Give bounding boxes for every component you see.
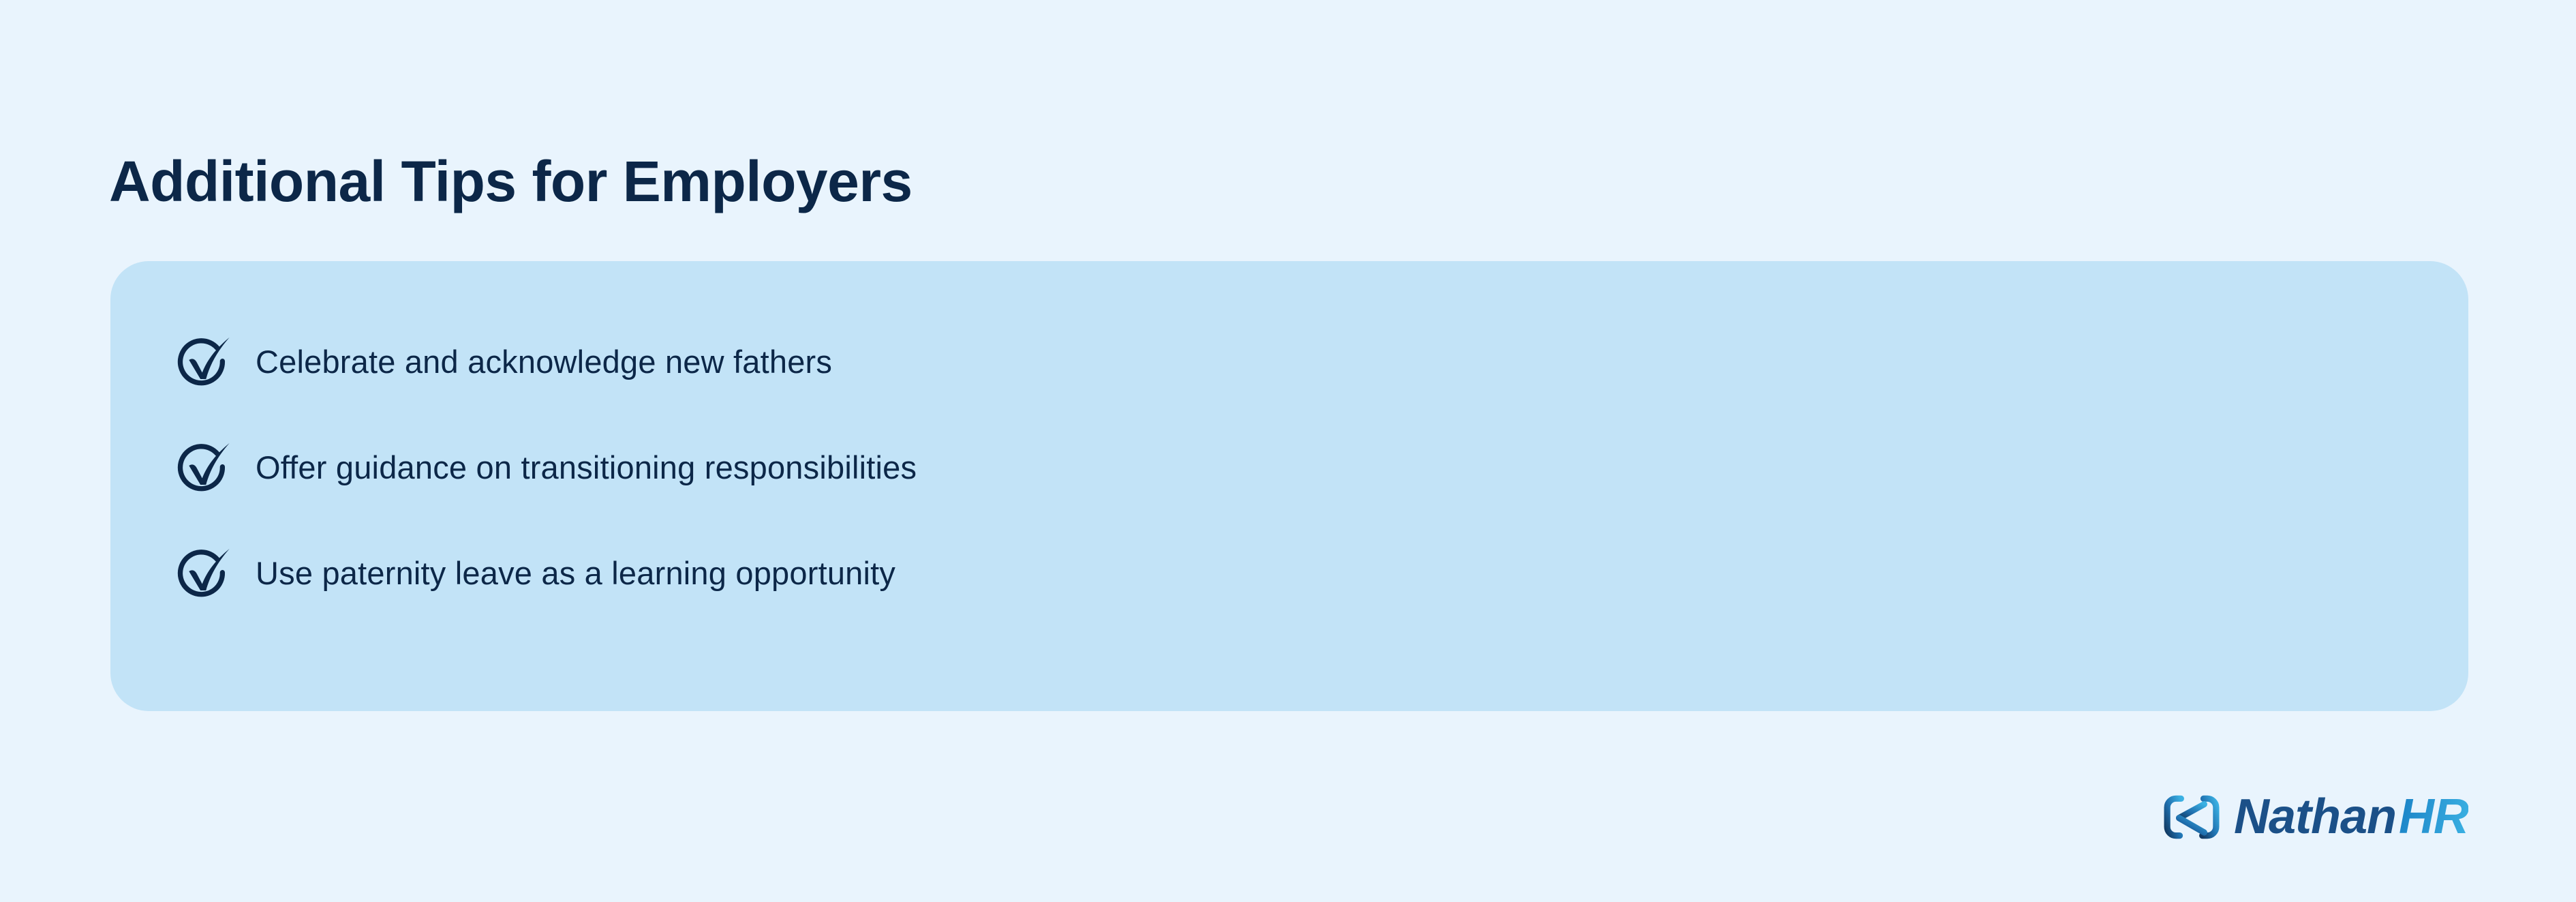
tips-card: Celebrate and acknowledge new fathers Of… [110, 261, 2468, 711]
circle-check-icon [174, 544, 232, 603]
brand-wordmark: Nathan HR [2234, 792, 2468, 841]
list-item: Use paternity leave as a learning opport… [174, 539, 2441, 607]
brand-suffix: HR [2399, 792, 2468, 841]
list-item-label: Celebrate and acknowledge new fathers [256, 344, 832, 380]
circle-check-icon [174, 438, 232, 497]
infographic-page: Additional Tips for Employers Celebrate … [0, 0, 2576, 902]
circle-check-icon [174, 333, 232, 391]
list-item: Offer guidance on transitioning responsi… [174, 434, 2441, 502]
brand-logo: Nathan HR [2160, 781, 2468, 852]
list-item: Celebrate and acknowledge new fathers [174, 328, 2441, 396]
page-title: Additional Tips for Employers [109, 153, 913, 210]
brand-name: Nathan [2234, 792, 2396, 841]
nathanhr-n-monogram-icon [2160, 785, 2223, 848]
tips-list: Celebrate and acknowledge new fathers Of… [174, 328, 2441, 607]
list-item-label: Offer guidance on transitioning responsi… [256, 449, 917, 486]
list-item-label: Use paternity leave as a learning opport… [256, 555, 895, 592]
